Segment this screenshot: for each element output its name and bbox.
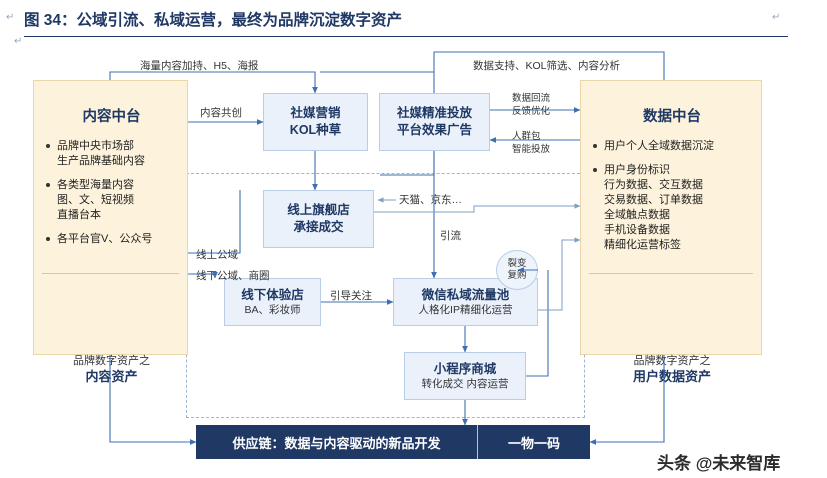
private-pool-subtitle: 人格化IP精细化运营 bbox=[419, 303, 513, 317]
figure-title: 图 34：公域引流、私域运营，最终为品牌沉淀数字资产 bbox=[24, 8, 784, 34]
crop-mark-left: ↵ bbox=[6, 12, 14, 23]
watermark: 头条 @未来智库 bbox=[657, 449, 780, 474]
supply-chain-bar: 供应链：数据与内容驱动的新品开发 一物一码 bbox=[196, 425, 590, 459]
social-marketing-subtitle: KOL种草 bbox=[290, 121, 341, 139]
social-marketing-title: 社媒营销 bbox=[290, 105, 340, 121]
offline-store-subtitle: BA、彩妆师 bbox=[244, 303, 300, 317]
content-cocreate-label: 内容共创 bbox=[200, 105, 242, 120]
supply-chain-tag-label: 一物一码 bbox=[478, 433, 590, 452]
social-ads-subtitle: 平台效果广告 bbox=[397, 121, 472, 139]
content-mid-platform-heading: 内容中台 bbox=[34, 105, 189, 126]
data-feedback-label: 数据回流反馈优化 bbox=[512, 92, 550, 118]
social-ads-title: 社媒精准投放 bbox=[397, 105, 472, 121]
guide-follow-label: 引导关注 bbox=[330, 288, 372, 303]
fission-repurchase-label: 裂变复购 bbox=[507, 258, 526, 282]
list-item: 品牌中央市场部生产品牌基础内容 bbox=[44, 139, 180, 169]
mini-program-subtitle: 转化成交 内容运营 bbox=[422, 377, 509, 391]
online-store-title: 线上旗舰店 bbox=[287, 202, 350, 218]
content-panel-divider bbox=[42, 273, 179, 274]
content-mid-platform-panel: 内容中台 品牌中央市场部生产品牌基础内容 各类型海量内容图、文、短视频直播台本 … bbox=[33, 80, 188, 355]
offline-experience-store-box: 线下体验店 BA、彩妆师 bbox=[224, 278, 321, 326]
social-marketing-box: 社媒营销 KOL种草 bbox=[263, 93, 368, 151]
social-ads-box: 社媒精准投放 平台效果广告 bbox=[379, 93, 490, 151]
user-data-asset-footer-big: 用户数据资产 bbox=[633, 369, 711, 384]
online-flagship-store-box: 线上旗舰店 承接成交 bbox=[263, 190, 374, 248]
fission-repurchase-oval: 裂变复购 bbox=[496, 250, 538, 290]
top-left-arrow-label: 海量内容加持、H5、海报 bbox=[140, 58, 258, 73]
crop-mark-left-2: ↵ bbox=[14, 36, 22, 47]
figure-title-text: 图 34：公域引流、私域运营，最终为品牌沉淀数字资产 bbox=[24, 12, 402, 29]
offline-store-title: 线下体验店 bbox=[241, 287, 304, 303]
top-right-arrow-label: 数据支持、KOL筛选、内容分析 bbox=[473, 58, 620, 73]
mini-program-mall-box: 小程序商城 转化成交 内容运营 bbox=[404, 352, 526, 400]
list-item: 用户个人全域数据沉淀 bbox=[591, 139, 757, 154]
figure-root: ↵ ↵ ↵ 图 34：公域引流、私域运营，最终为品牌沉淀数字资产 内容中台 品牌… bbox=[0, 0, 827, 478]
list-item: 各平台官V、公众号 bbox=[44, 232, 180, 247]
data-panel-divider bbox=[589, 273, 753, 274]
content-asset-footer: 品牌数字资产之 内容资产 bbox=[40, 353, 183, 386]
list-item: 各类型海量内容图、文、短视频直播台本 bbox=[44, 178, 180, 223]
data-mid-platform-heading: 数据中台 bbox=[581, 105, 763, 126]
user-data-asset-footer: 品牌数字资产之 用户数据资产 bbox=[587, 353, 757, 386]
crowd-pack-label: 人群包智能投放 bbox=[512, 130, 550, 156]
content-mid-platform-bullets: 品牌中央市场部生产品牌基础内容 各类型海量内容图、文、短视频直播台本 各平台官V… bbox=[44, 139, 180, 256]
supply-chain-divider bbox=[477, 425, 478, 459]
data-mid-platform-bullets: 用户个人全域数据沉淀 用户身份标识行为数据、交互数据交易数据、订单数据全域触点数… bbox=[591, 139, 757, 262]
content-asset-footer-small: 品牌数字资产之 bbox=[73, 355, 150, 367]
user-data-asset-footer-small: 品牌数字资产之 bbox=[634, 355, 711, 367]
online-public-domain-label: 线上公域 bbox=[196, 247, 238, 262]
private-pool-title: 微信私域流量池 bbox=[422, 287, 510, 303]
supply-chain-main-label: 供应链：数据与内容驱动的新品开发 bbox=[196, 433, 477, 452]
traffic-drive-label: 引流 bbox=[440, 228, 461, 243]
title-divider bbox=[24, 36, 788, 37]
data-mid-platform-panel: 数据中台 用户个人全域数据沉淀 用户身份标识行为数据、交互数据交易数据、订单数据… bbox=[580, 80, 762, 355]
online-store-platforms-label: 天猫、京东… bbox=[399, 192, 462, 207]
offline-public-domain-label: 线下公域、商圈 bbox=[196, 268, 270, 283]
list-item: 用户身份标识行为数据、交互数据交易数据、订单数据全域触点数据手机设备数据精细化运… bbox=[591, 163, 757, 253]
content-asset-footer-big: 内容资产 bbox=[85, 369, 137, 384]
mini-program-title: 小程序商城 bbox=[434, 361, 497, 377]
online-store-subtitle: 承接成交 bbox=[293, 218, 343, 236]
